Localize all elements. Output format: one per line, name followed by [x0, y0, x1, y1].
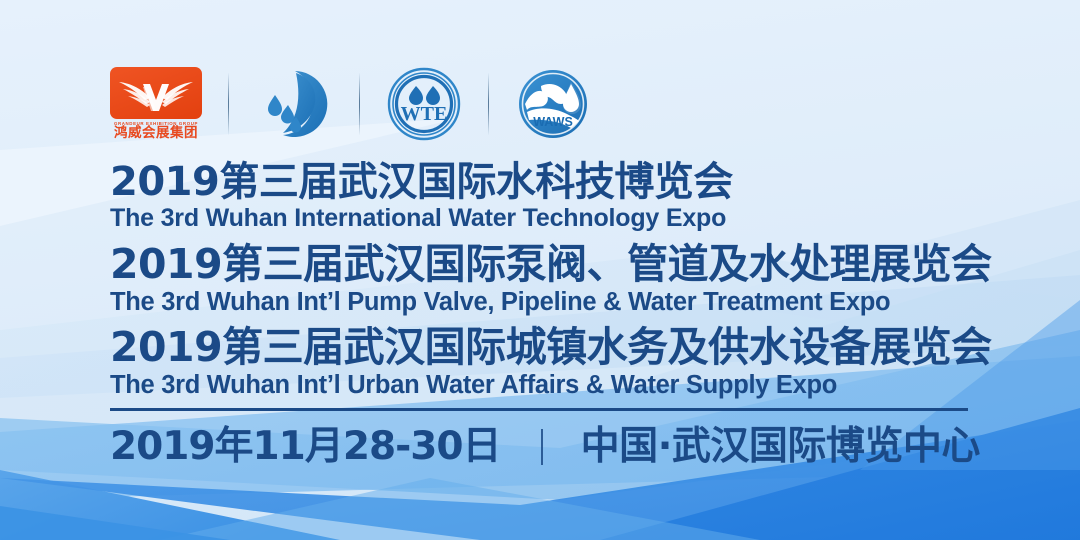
logo-divider — [488, 73, 489, 135]
headline-2-english: The 3rd Wuhan Int’l Pump Valve, Pipeline… — [110, 287, 990, 317]
headline-row-2: 2019第三届武汉国际泵阀、管道及水处理展览会 The 3rd Wuhan In… — [110, 242, 990, 317]
headline-1-chinese: 2019第三届武汉国际水科技博览会 — [110, 160, 990, 204]
grandeur-wing-mark-icon — [110, 67, 202, 119]
expo-banner: GRANDEUR EXHIBITION GROUP 鸿威会展集团 — [0, 0, 1080, 540]
logo-waws[interactable]: WAWS — [515, 66, 591, 142]
logo-divider — [228, 73, 229, 135]
waws-label: WAWS — [533, 115, 573, 129]
headline-block: 2019第三届武汉国际水科技博览会 The 3rd Wuhan Internat… — [110, 160, 990, 469]
event-info-separator — [541, 429, 543, 465]
event-info-line: 2019年11月28-30日 中国·武汉国际博览中心 — [110, 425, 990, 469]
water-droplet-icon — [255, 65, 333, 143]
waws-icon: WAWS — [515, 66, 591, 142]
logo-row: GRANDEUR EXHIBITION GROUP 鸿威会展集团 — [110, 62, 591, 146]
headline-row-1: 2019第三届武汉国际水科技博览会 The 3rd Wuhan Internat… — [110, 160, 990, 233]
event-date: 2019年11月28-30日 — [110, 425, 501, 469]
wte-icon: WTE — [386, 66, 462, 142]
headline-2-chinese: 2019第三届武汉国际泵阀、管道及水处理展览会 — [110, 242, 990, 287]
headline-divider — [110, 408, 968, 411]
headline-3-chinese: 2019第三届武汉国际城镇水务及供水设备展览会 — [110, 325, 990, 370]
grandeur-chinese-name: 鸿威会展集团 — [114, 126, 198, 141]
event-venue: 中国·武汉国际博览中心 — [581, 425, 980, 469]
logo-grandeur-exhibition-group[interactable]: GRANDEUR EXHIBITION GROUP 鸿威会展集团 — [110, 67, 202, 141]
wte-label: WTE — [401, 103, 448, 125]
headline-row-3: 2019第三届武汉国际城镇水务及供水设备展览会 The 3rd Wuhan In… — [110, 325, 990, 400]
headline-3-english: The 3rd Wuhan Int’l Urban Water Affairs … — [110, 370, 990, 400]
logo-wte[interactable]: WTE — [386, 66, 462, 142]
logo-divider — [359, 73, 360, 135]
grandeur-english-name: GRANDEUR EXHIBITION GROUP — [114, 121, 198, 126]
logo-water-droplet[interactable] — [255, 65, 333, 143]
headline-1-english: The 3rd Wuhan International Water Techno… — [110, 204, 990, 233]
